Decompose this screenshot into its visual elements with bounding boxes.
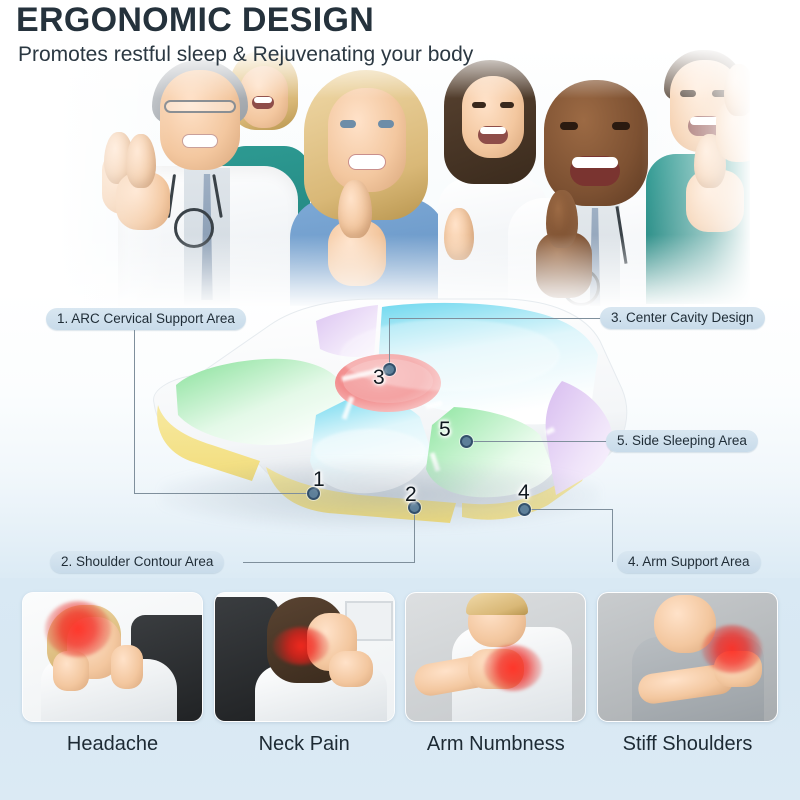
pillow-shadow [160,460,600,530]
symptom-photo-stiff-shoulders [597,592,778,722]
symptom-caption-arm-numbness: Arm Numbness [405,733,586,755]
symptom-photo-neck-pain [214,592,395,722]
callout-label-4-arm-support-area[interactable]: 4. Arm Support Area [617,551,761,573]
marker-number-3: 3 [373,366,385,390]
connector-5-horizontal [466,441,614,442]
connector-1-horizontal [134,493,312,494]
symptom-card-stiff-shoulders[interactable]: Stiff Shoulders [597,592,778,755]
symptom-photo-headache [22,592,203,722]
symptom-photo-arm-numbness [405,592,586,722]
connector-2-horizontal [243,562,415,563]
symptom-caption-headache: Headache [22,733,203,755]
marker-number-4: 4 [518,481,530,505]
connector-3-horizontal [389,318,605,319]
hero-photo-medical-team [60,48,750,306]
connector-4-vertical [612,509,613,562]
symptom-card-arm-numbness[interactable]: Arm Numbness [405,592,586,755]
symptom-card-headache[interactable]: Headache [22,592,203,755]
marker-number-5: 5 [439,418,451,442]
pain-highlight-shoulder [702,625,762,673]
connector-1-vertical [134,330,135,494]
symptom-card-list: Headache Neck Pain [0,592,800,755]
pain-highlight-head [45,601,111,657]
hero-photo-fade [60,48,750,306]
symptom-card-neck-pain[interactable]: Neck Pain [214,592,395,755]
infographic-page: 1 2 3 4 5 1. ARC Cervical Support Area 2… [0,0,800,800]
pain-highlight-neck [273,627,329,665]
callout-label-5-side-sleeping-area[interactable]: 5. Side Sleeping Area [606,430,758,452]
symptom-caption-stiff-shoulders: Stiff Shoulders [597,733,778,755]
callout-label-3-center-cavity-design[interactable]: 3. Center Cavity Design [600,307,765,329]
marker-number-2: 2 [405,483,417,507]
marker-number-1: 1 [313,468,325,492]
connector-4-horizontal [524,509,613,510]
page-title: ERGONOMIC DESIGN [0,0,800,39]
marker-dot-5[interactable] [460,435,473,448]
connector-2-vertical [414,508,415,562]
callout-label-1-arc-cervical-support-area[interactable]: 1. ARC Cervical Support Area [46,308,246,330]
pain-highlight-arm [484,645,542,691]
header: ERGONOMIC DESIGN Promotes restful sleep … [0,0,800,68]
page-subtitle: Promotes restful sleep & Rejuvenating yo… [0,39,800,67]
callout-label-2-shoulder-contour-area[interactable]: 2. Shoulder Contour Area [50,551,224,573]
symptom-caption-neck-pain: Neck Pain [214,733,395,755]
